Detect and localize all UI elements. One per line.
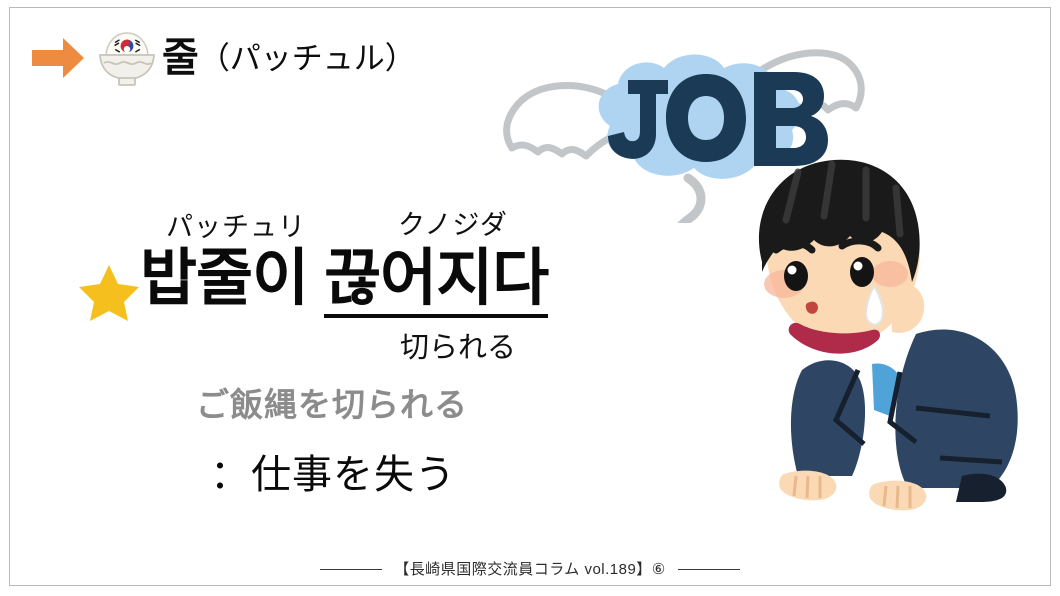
header-row: 줄 （パッチュル） [30, 22, 416, 94]
crying-businessman-on-all-fours-illustration [740, 158, 1060, 526]
gloss-small-annotation: 切られる [400, 334, 516, 363]
star-icon [78, 262, 140, 322]
phrase-part-one: 밥줄이 [140, 246, 308, 313]
header-katakana-reading: （パッチュル） [199, 43, 416, 74]
korean-phrase: 밥줄이 끊어지다 [140, 246, 548, 318]
footer: 【長崎県国際交流員コラム vol.189】⑥ [0, 562, 1060, 577]
footer-caption: 【長崎県国際交流員コラム vol.189】⑥ [394, 562, 666, 577]
footer-rule-right [678, 569, 740, 570]
gloss-literal-translation: ご飯縄を切られる [196, 388, 468, 421]
furigana-second-word: クノジダ [398, 212, 508, 239]
gloss-actual-meaning: ：仕事を失う [210, 455, 456, 495]
furigana-first-word: パッチュリ [166, 214, 306, 241]
slide-canvas: 줄 （パッチュル） パッチュリ クノジダ 밥줄이 끊어지다 切られる ご飯縄を切… [0, 0, 1060, 596]
footer-rule-left [320, 569, 382, 570]
right-arrow-icon [30, 35, 86, 81]
korean-rice-bowl-icon [94, 29, 160, 87]
header-korean-word: 줄 [162, 38, 199, 78]
phrase-part-two-underlined: 끊어지다 [324, 246, 548, 318]
